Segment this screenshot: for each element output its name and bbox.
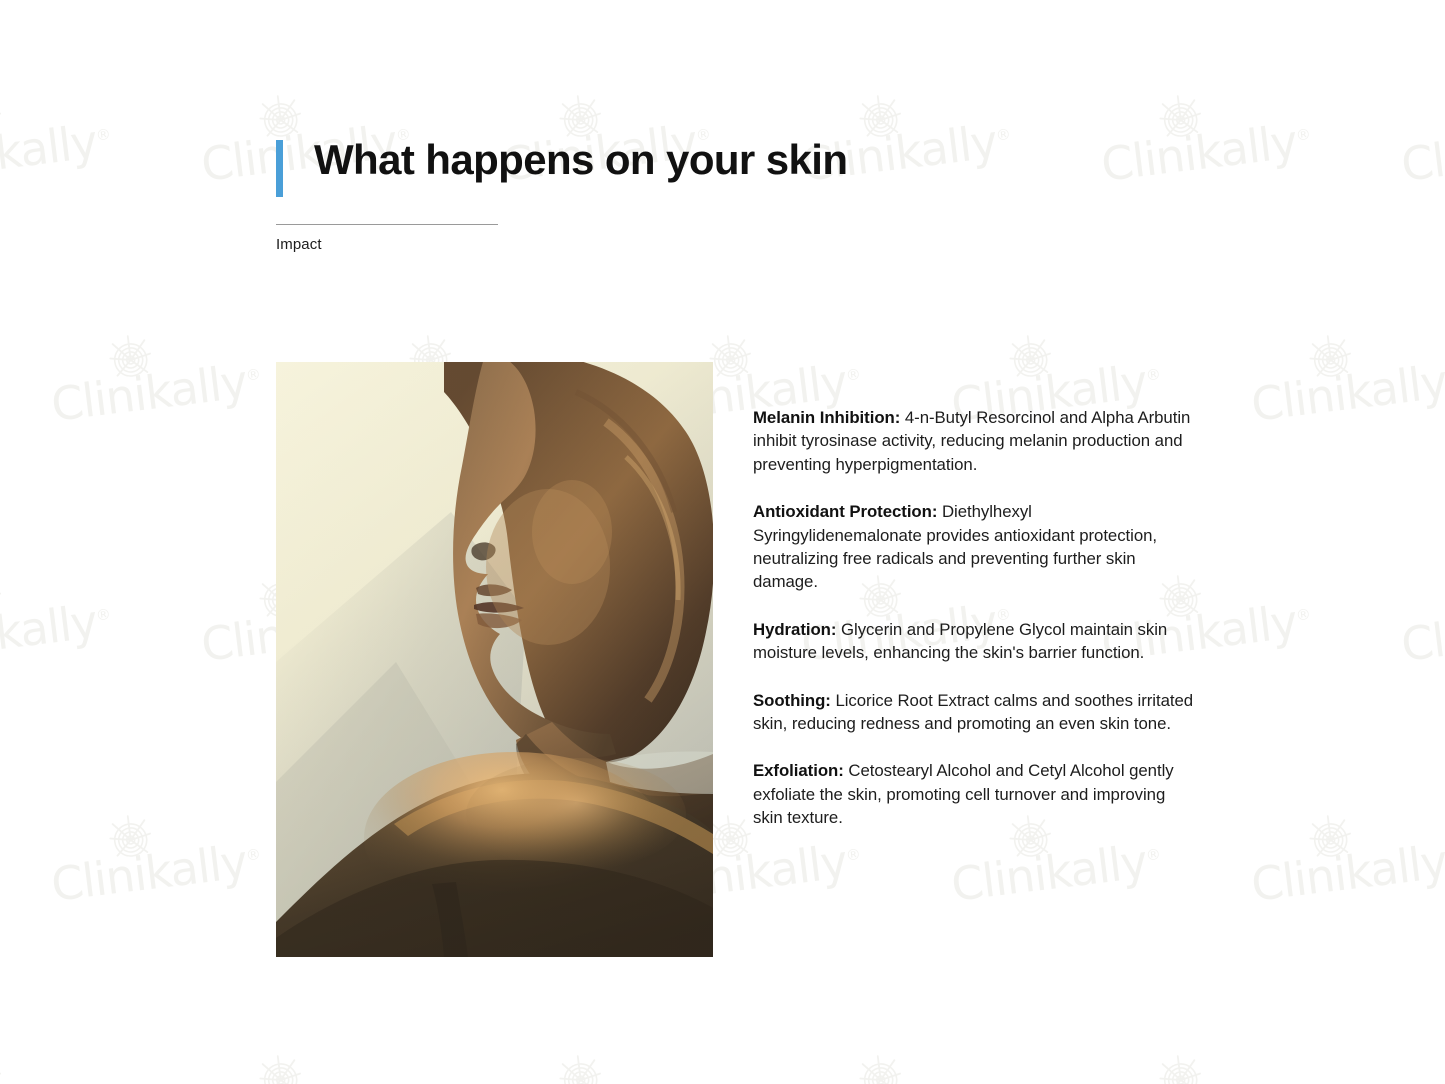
impact-paragraph: Antioxidant Protection: Diethylhexyl Syr… [753,500,1195,594]
section-eyebrow-label: Impact [276,236,322,253]
impact-paragraph: Soothing: Licorice Root Extract calms an… [753,689,1195,736]
watermark-text: Clinikally® [0,113,114,192]
watermark-registered-mark: ® [1145,845,1161,865]
watermark-text: Clinikally® [948,833,1163,912]
watermark-clinikally: Clinikally® [1244,316,1445,453]
section-divider [276,224,498,225]
slide-canvas: Clinikally®Clinikally®Clinikally®Clinika… [0,0,1445,1084]
radial-burst-icon [254,91,307,144]
radial-burst-icon [1304,331,1357,384]
watermark-registered-mark: ® [995,125,1011,145]
watermark-clinikally: Clinikally® [1394,1036,1445,1084]
watermark-text: Clinikally® [198,1073,413,1084]
watermark-text: Clinikally® [1398,1073,1445,1084]
watermark-registered-mark: ® [845,845,861,865]
radial-burst-icon [0,571,7,624]
watermark-text: Clinikally® [0,593,114,672]
watermark-registered-mark: ® [1145,365,1161,385]
watermark-registered-mark: ® [95,605,111,625]
watermark-clinikally: Clinikally® [1094,1036,1336,1084]
watermark-text: Clinikally® [1098,1073,1313,1084]
radial-burst-icon [854,91,907,144]
radial-burst-icon [854,1051,907,1084]
radial-burst-icon [254,1051,307,1084]
watermark-text: Clinikally® [798,1073,1013,1084]
watermark-clinikally: Clinikally® [194,1036,436,1084]
watermark-text: Clinikally® [0,1073,114,1084]
page-title: What happens on your skin [314,136,847,183]
watermark-text: Clinikally® [498,1073,713,1084]
portrait-photo [276,362,713,957]
radial-burst-icon [1004,331,1057,384]
watermark-registered-mark: ® [1295,125,1311,145]
radial-burst-icon [104,811,157,864]
impact-paragraph-label: Exfoliation: [753,761,844,780]
impact-paragraph-label: Soothing: [753,691,831,710]
watermark-registered-mark: ® [1295,605,1311,625]
watermark-clinikally: Clinikally® [1394,556,1445,693]
impact-paragraph: Melanin Inhibition: 4-n-Butyl Resorcinol… [753,406,1195,476]
radial-burst-icon [0,91,7,144]
watermark-clinikally: Clinikally® [0,556,136,693]
radial-burst-icon [554,1051,607,1084]
watermark-text: Clinikally® [48,353,263,432]
impact-paragraph: Exfoliation: Cetostearyl Alcohol and Cet… [753,759,1195,829]
watermark-clinikally: Clinikally® [44,796,286,933]
impact-paragraph-label: Melanin Inhibition: [753,408,900,427]
watermark-registered-mark: ® [245,845,261,865]
watermark-text: Clinikally® [1398,113,1445,192]
watermark-text: Clinikally® [1248,833,1445,912]
radial-burst-icon [1154,91,1207,144]
radial-burst-icon [104,331,157,384]
watermark-clinikally: Clinikally® [1244,796,1445,933]
watermark-clinikally: Clinikally® [794,1036,1036,1084]
radial-burst-icon [0,1051,7,1084]
watermark-registered-mark: ® [245,365,261,385]
watermark-clinikally: Clinikally® [0,1036,136,1084]
radial-burst-icon [1304,811,1357,864]
watermark-clinikally: Clinikally® [1394,76,1445,213]
impact-paragraph-label: Antioxidant Protection: [753,502,937,521]
watermark-clinikally: Clinikally® [1094,76,1336,213]
impact-paragraph-label: Hydration: [753,620,836,639]
impact-content-column: Melanin Inhibition: 4-n-Butyl Resorcinol… [753,406,1195,830]
watermark-text: Clinikally® [1398,593,1445,672]
watermark-text: Clinikally® [48,833,263,912]
accent-bar [276,140,283,197]
watermark-registered-mark: ® [845,365,861,385]
radial-burst-icon [1154,1051,1207,1084]
watermark-clinikally: Clinikally® [44,316,286,453]
watermark-registered-mark: ® [95,125,111,145]
watermark-clinikally: Clinikally® [494,1036,736,1084]
watermark-clinikally: Clinikally® [0,76,136,213]
impact-paragraph: Hydration: Glycerin and Propylene Glycol… [753,618,1195,665]
watermark-text: Clinikally® [1098,113,1313,192]
watermark-text: Clinikally® [1248,353,1445,432]
